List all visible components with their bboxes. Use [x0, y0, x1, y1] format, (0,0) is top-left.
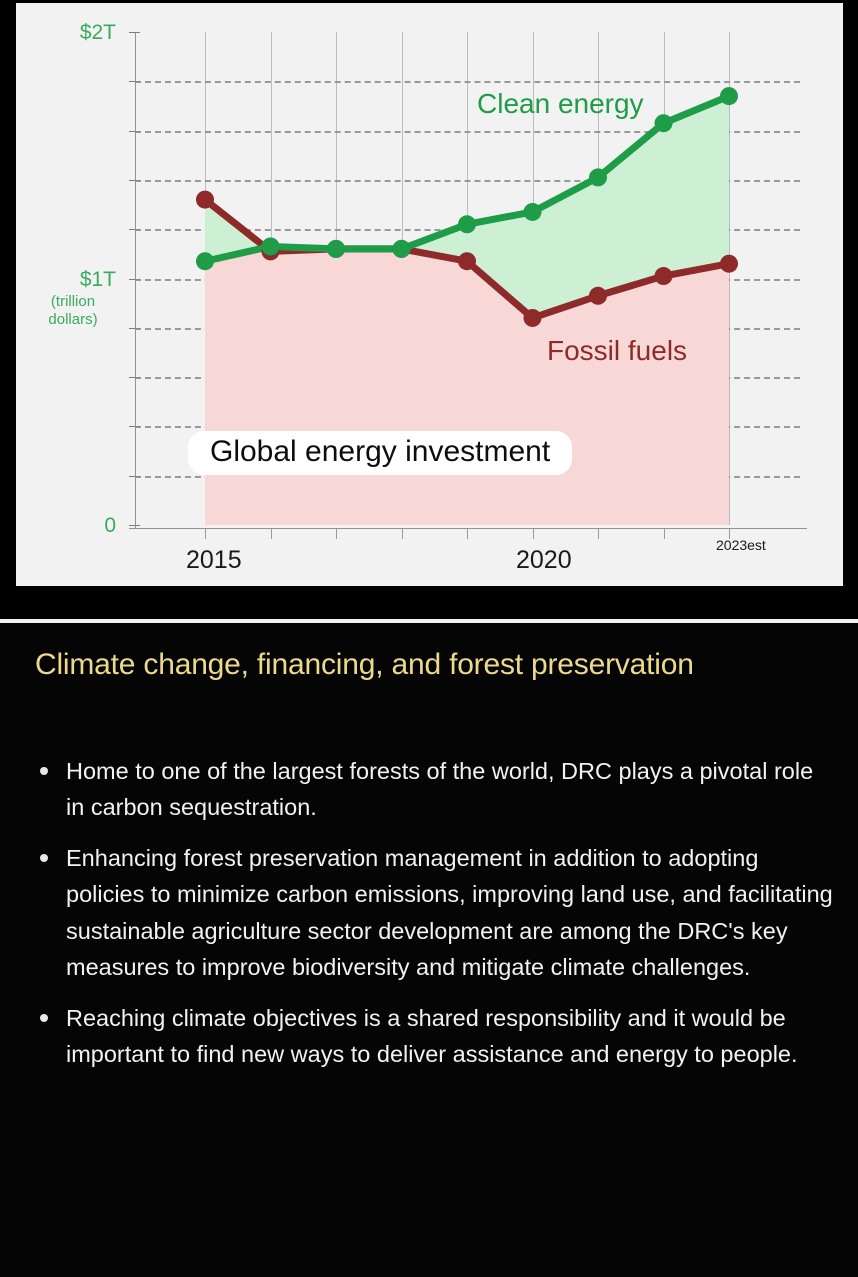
bullet-dot-icon — [40, 854, 48, 862]
bullet-dot-icon — [40, 767, 48, 775]
y-axis-label-1t: $1T — [38, 269, 116, 291]
clean-energy-data-point — [393, 240, 411, 258]
fossil-fuels-data-point — [589, 287, 607, 305]
bullet-item: Home to one of the largest forests of th… — [28, 753, 833, 826]
slide-page: $2T $1T (trillion dollars) 0 2015 2020 2… — [0, 0, 858, 1277]
bullet-text: Home to one of the largest forests of th… — [66, 753, 833, 826]
clean-energy-data-point — [589, 168, 607, 186]
x-axis-label-2015: 2015 — [186, 546, 242, 575]
y-axis-unit-line2: dollars) — [48, 311, 97, 328]
x-axis-tick — [664, 529, 665, 539]
y-axis-unit-label: (trillion dollars) — [30, 293, 116, 329]
clean-energy-data-point — [720, 87, 738, 105]
clean-energy-data-point — [458, 215, 476, 233]
slide-title: Climate change, financing, and forest pr… — [35, 648, 835, 682]
y-axis-label-zero: 0 — [38, 515, 116, 537]
bullet-dot-icon — [40, 1014, 48, 1022]
clean-energy-data-point — [655, 114, 673, 132]
x-axis-line — [129, 528, 807, 529]
chart-title-badge: Global energy investment — [188, 431, 572, 475]
bullet-item: Reaching climate objectives is a shared … — [28, 1000, 833, 1073]
x-axis-label-2023est: 2023est — [716, 537, 766, 553]
x-axis-tick — [598, 529, 599, 539]
bullet-text: Enhancing forest preservation management… — [66, 840, 833, 986]
bullet-text: Reaching climate objectives is a shared … — [66, 1000, 833, 1073]
fossil-fuels-data-point — [720, 255, 738, 273]
x-axis-tick — [467, 529, 468, 539]
y-axis-tick — [129, 525, 140, 526]
x-axis-label-2020: 2020 — [516, 546, 572, 575]
clean-energy-data-point — [524, 203, 542, 221]
fossil-fuels-data-point — [655, 267, 673, 285]
series-label-fossil-fuels: Fossil fuels — [547, 335, 687, 367]
fossil-fuels-data-point — [524, 309, 542, 327]
y-axis-label-2t: $2T — [38, 22, 116, 44]
fossil-fuels-data-point — [196, 191, 214, 209]
x-axis-tick — [533, 529, 534, 539]
x-axis-tick — [205, 529, 206, 539]
series-label-clean-energy: Clean energy — [477, 88, 644, 120]
x-axis-tick — [271, 529, 272, 539]
clean-energy-data-point — [262, 237, 280, 255]
text-slide: Climate change, financing, and forest pr… — [0, 623, 858, 1277]
y-axis-unit-line1: (trillion — [51, 293, 95, 310]
fossil-fuels-data-point — [458, 252, 476, 270]
chart-card: $2T $1T (trillion dollars) 0 2015 2020 2… — [16, 3, 843, 586]
clean-energy-data-point — [196, 252, 214, 270]
bullet-list: Home to one of the largest forests of th… — [28, 753, 833, 1086]
clean-energy-data-point — [327, 240, 345, 258]
x-axis-tick — [336, 529, 337, 539]
x-axis-tick — [402, 529, 403, 539]
bullet-item: Enhancing forest preservation management… — [28, 840, 833, 986]
